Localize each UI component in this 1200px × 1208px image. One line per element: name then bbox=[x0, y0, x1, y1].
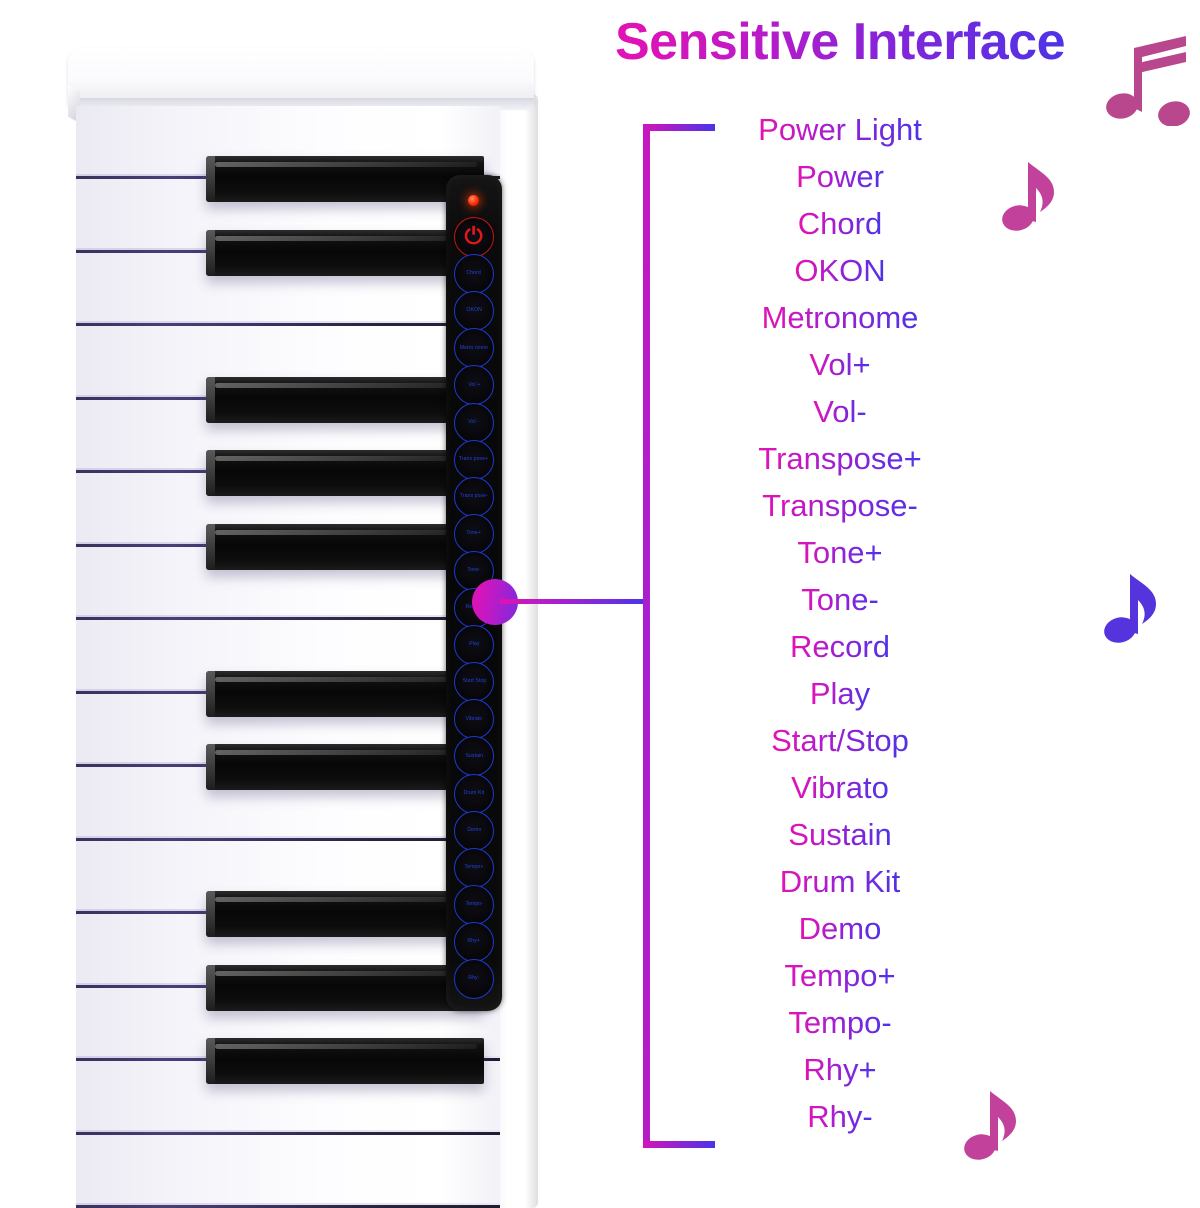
panel-button-chord[interactable]: Chord bbox=[454, 254, 494, 294]
power-indicator-led bbox=[468, 195, 479, 206]
feature-label-text: OKON bbox=[794, 247, 885, 294]
feature-label-text: Vol+ bbox=[809, 341, 870, 388]
panel-button-label: Tone- bbox=[467, 568, 480, 573]
feature-label: Vibrato bbox=[690, 764, 990, 811]
panel-button-label: Rhy+ bbox=[468, 939, 480, 944]
feature-label-text: Start/Stop bbox=[771, 717, 909, 764]
feature-label: Power Light bbox=[690, 106, 990, 153]
feature-label: Tempo+ bbox=[690, 952, 990, 999]
black-key[interactable] bbox=[206, 744, 484, 790]
feature-label: Record bbox=[690, 623, 990, 670]
feature-label: Rhy- bbox=[690, 1093, 990, 1140]
black-key[interactable] bbox=[206, 671, 484, 717]
feature-label: Drum Kit bbox=[690, 858, 990, 905]
panel-button-start-stop[interactable]: Start Stop bbox=[454, 662, 494, 702]
eighth-note-middle-icon bbox=[1100, 568, 1162, 648]
panel-button-rhy[interactable]: Rhy- bbox=[454, 959, 494, 999]
feature-label-text: Transpose+ bbox=[758, 435, 921, 482]
feature-label-text: Vol- bbox=[813, 388, 866, 435]
panel-button-tempo[interactable]: Tempo- bbox=[454, 885, 494, 925]
panel-button-rhy[interactable]: Rhy+ bbox=[454, 922, 494, 962]
feature-label: Vol- bbox=[690, 388, 990, 435]
feature-label-text: Power bbox=[796, 153, 884, 200]
panel-button-label: Tempo- bbox=[465, 902, 483, 907]
feature-label: OKON bbox=[690, 247, 990, 294]
feature-label-text: Tone- bbox=[801, 576, 879, 623]
panel-button-label: Rhy- bbox=[468, 976, 479, 981]
panel-button-trans-pose[interactable]: Trans pose- bbox=[454, 477, 494, 517]
panel-button-label: Vol + bbox=[468, 383, 480, 388]
white-key[interactable] bbox=[76, 1135, 500, 1208]
feature-label-text: Rhy+ bbox=[803, 1046, 876, 1093]
panel-button-demo[interactable]: Demo bbox=[454, 811, 494, 851]
panel-button-vol[interactable]: Vol - bbox=[454, 403, 494, 443]
panel-button-drum-kit[interactable]: Drum Kit bbox=[454, 774, 494, 814]
promo-image-stage: ⏻ChordOKONMetro nomeVol +Vol -Trans pose… bbox=[0, 0, 1200, 1200]
panel-button-label: Drum Kit bbox=[464, 791, 485, 796]
black-key[interactable] bbox=[206, 524, 484, 570]
panel-button-okon[interactable]: OKON bbox=[454, 291, 494, 331]
panel-button-label: Vibrato bbox=[466, 717, 483, 722]
panel-button-vibrato[interactable]: Vibrato bbox=[454, 699, 494, 739]
feature-label: Chord bbox=[690, 200, 990, 247]
panel-button-label: Tempo+ bbox=[465, 865, 484, 870]
panel-button-label: Sustain bbox=[465, 754, 483, 759]
bracket-bottom-arm bbox=[643, 1141, 715, 1148]
feature-label-text: Transpose- bbox=[762, 482, 918, 529]
feature-label-text: Record bbox=[790, 623, 890, 670]
feature-label: Transpose- bbox=[690, 482, 990, 529]
beamed-double-note-icon bbox=[1090, 30, 1196, 126]
feature-label: Sustain bbox=[690, 811, 990, 858]
eighth-note-bottom-icon bbox=[960, 1086, 1022, 1164]
feature-label-text: Power Light bbox=[758, 106, 922, 153]
feature-label: Power bbox=[690, 153, 990, 200]
feature-label: Rhy+ bbox=[690, 1046, 990, 1093]
callout-connector-line bbox=[500, 599, 646, 604]
panel-button-tempo[interactable]: Tempo+ bbox=[454, 848, 494, 888]
panel-button-tone[interactable]: Tone+ bbox=[454, 514, 494, 554]
feature-label-text: Demo bbox=[799, 905, 882, 952]
feature-label: Start/Stop bbox=[690, 717, 990, 764]
eighth-note-top-icon bbox=[998, 158, 1060, 234]
power-icon: ⏻ bbox=[465, 226, 483, 249]
panel-button-sustain[interactable]: Sustain bbox=[454, 736, 494, 776]
panel-button-play[interactable]: Play bbox=[454, 625, 494, 665]
feature-label-text: Tempo+ bbox=[784, 952, 895, 999]
black-key[interactable] bbox=[206, 230, 484, 276]
panel-button-label: Play bbox=[469, 642, 479, 647]
feature-label-text: Sustain bbox=[788, 811, 891, 858]
panel-button-label: Chord bbox=[467, 271, 481, 276]
panel-button-vol[interactable]: Vol + bbox=[454, 365, 494, 405]
feature-label-text: Chord bbox=[798, 200, 882, 247]
black-key[interactable] bbox=[206, 377, 484, 423]
page-title: Sensitive Interface bbox=[560, 14, 1120, 71]
panel-button-trans-pose[interactable]: Trans pose+ bbox=[454, 440, 494, 480]
feature-label: Tone+ bbox=[690, 529, 990, 576]
feature-label-text: Rhy- bbox=[807, 1093, 872, 1140]
panel-button-label: Demo bbox=[467, 828, 481, 833]
black-key[interactable] bbox=[206, 450, 484, 496]
panel-button-label: Metro nome bbox=[460, 346, 488, 351]
feature-label-text: Tempo- bbox=[788, 999, 891, 1046]
feature-label: Play bbox=[690, 670, 990, 717]
feature-label: Transpose+ bbox=[690, 435, 990, 482]
black-key[interactable] bbox=[206, 965, 484, 1011]
feature-label-list: Power LightPowerChordOKONMetronomeVol+Vo… bbox=[690, 106, 990, 1140]
panel-button-label: Trans pose+ bbox=[459, 457, 488, 462]
black-key[interactable] bbox=[206, 891, 484, 937]
black-key[interactable] bbox=[206, 1038, 484, 1084]
feature-label: Tempo- bbox=[690, 999, 990, 1046]
panel-button-label: OKON bbox=[466, 309, 481, 314]
feature-label-text: Tone+ bbox=[797, 529, 882, 576]
feature-label: Vol+ bbox=[690, 341, 990, 388]
feature-label-text: Drum Kit bbox=[780, 858, 901, 905]
feature-label-text: Play bbox=[810, 670, 870, 717]
feature-label-text: Metronome bbox=[762, 294, 919, 341]
panel-button-metro-nome[interactable]: Metro nome bbox=[454, 328, 494, 368]
feature-label-text: Vibrato bbox=[791, 764, 889, 811]
feature-label: Metronome bbox=[690, 294, 990, 341]
feature-label: Tone- bbox=[690, 576, 990, 623]
bracket-vertical-spine bbox=[643, 124, 650, 1148]
panel-button-label: Tone+ bbox=[467, 531, 482, 536]
panel-button-label: Start Stop bbox=[462, 680, 486, 685]
feature-label: Demo bbox=[690, 905, 990, 952]
black-key[interactable] bbox=[206, 156, 484, 202]
page-title-text: Sensitive Interface bbox=[615, 14, 1065, 71]
power-button[interactable]: ⏻ bbox=[454, 217, 494, 257]
panel-button-label: Trans pose- bbox=[460, 494, 488, 499]
panel-button-label: Vol - bbox=[469, 420, 480, 425]
